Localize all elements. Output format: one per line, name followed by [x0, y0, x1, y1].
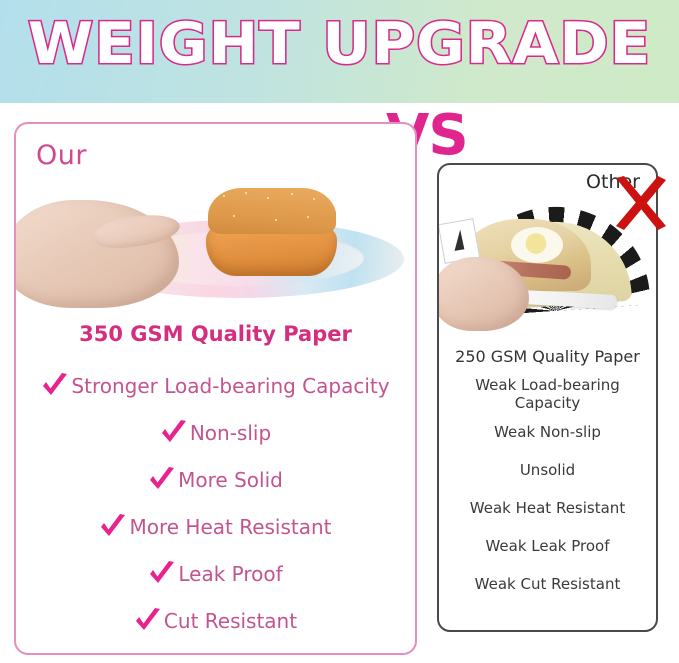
- check-mark-icon: [148, 561, 176, 587]
- our-feature-list: Stronger Load-bearing Capacity Non-slip …: [16, 362, 415, 644]
- list-item: More Heat Resistant: [16, 503, 415, 550]
- list-item-label: Leak Proof: [178, 562, 282, 586]
- other-panel-heading: 250 GSM Quality Paper: [439, 347, 656, 366]
- our-product-photo: [16, 172, 415, 312]
- red-x-icon: [612, 176, 670, 232]
- check-mark-icon: [134, 608, 162, 634]
- list-item-label: More Heat Resistant: [129, 515, 331, 539]
- list-item: Weak Cut Resistant: [439, 565, 656, 603]
- check-mark-icon: [148, 467, 176, 493]
- list-item: Weak Load-bearing Capacity: [439, 375, 656, 413]
- list-item: Non-slip: [16, 409, 415, 456]
- list-item-label: Cut Resistant: [164, 609, 297, 633]
- other-product-panel: Other 250 GSM Quality Paper Weak Load-be…: [437, 163, 658, 632]
- list-item-label: Stronger Load-bearing Capacity: [71, 374, 389, 398]
- fried-egg-icon: [511, 227, 563, 263]
- list-item: Stronger Load-bearing Capacity: [16, 362, 415, 409]
- check-mark-icon: [160, 420, 188, 446]
- list-item: Cut Resistant: [16, 597, 415, 644]
- header-banner: WEIGHT UPGRADE: [0, 0, 679, 103]
- list-item: More Solid: [16, 456, 415, 503]
- list-item-label: Non-slip: [190, 421, 271, 445]
- list-item: Weak Leak Proof: [439, 527, 656, 565]
- list-item: Weak Non-slip: [439, 413, 656, 451]
- other-feature-list: Weak Load-bearing Capacity Weak Non-slip…: [439, 375, 656, 603]
- bolt-icon: [455, 229, 466, 251]
- check-mark-icon: [41, 373, 69, 399]
- list-item: Leak Proof: [16, 550, 415, 597]
- page-title: WEIGHT UPGRADE: [0, 11, 679, 77]
- check-mark-icon: [99, 514, 127, 540]
- list-item-label: More Solid: [178, 468, 283, 492]
- list-item: Weak Heat Resistant: [439, 489, 656, 527]
- our-panel-heading: 350 GSM Quality Paper: [16, 322, 415, 346]
- our-panel-label: Our: [36, 140, 87, 171]
- hotdog-bun-top: [208, 188, 336, 234]
- list-item: Unsolid: [439, 451, 656, 489]
- our-product-panel: Our 350 GSM Quality Paper Stronger Load-…: [14, 122, 417, 655]
